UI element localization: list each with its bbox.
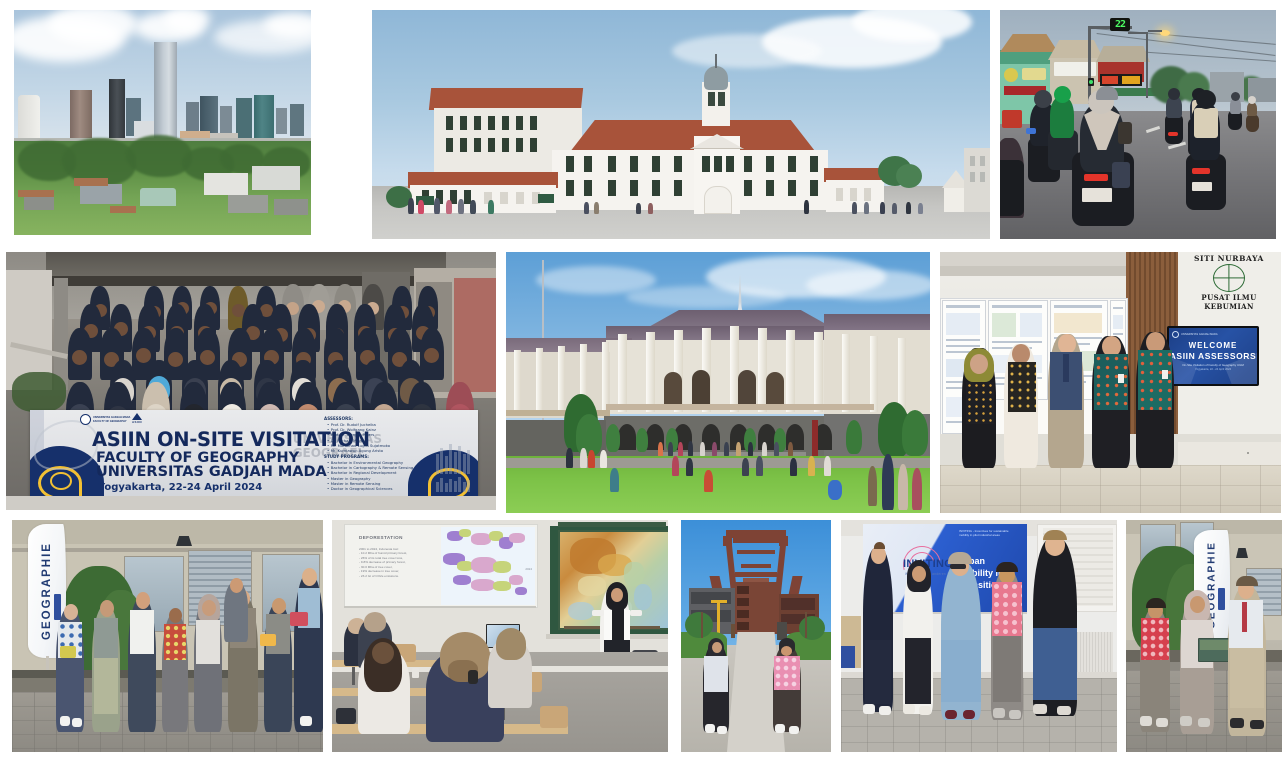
banner-date: Yogyakarta, 22-24 April 2024 [98,482,262,493]
study-programs-list: STUDY PROGRAMS: Bachelor in Environmenta… [324,454,413,492]
wall-sign: SITI NURBAYA PUSAT ILMU KEBUMIAN [1181,254,1277,311]
welcome-line1: WELCOME [1189,341,1238,350]
study-programs-heading: STUDY PROGRAMS: [324,454,413,459]
banner-subtitle-2: UNIVERSITAS GADJAH MADA [96,464,327,480]
photo-lecture-deforestation: DEFORESTATION 2001 to 2024, Indonesia lo… [332,520,668,752]
photo-ugm-balairung: Universitas Gadjah Mada Balairung main h… [506,252,930,513]
asiin-triangle-icon [132,413,142,420]
photo-fatahillah-museum: Jakarta History Museum (Fatahillah) colo… [372,10,990,239]
assessors-list: ASSESSORS: Prof. Dr. Rudolf Juchelka Pro… [324,416,390,454]
welcome-screen-content: UNIVERSITAS GADJAH MADA WELCOME ASIIN AS… [1169,328,1257,384]
photo-welcome-assessors: SITI NURBAYA PUSAT ILMU KEBUMIAN [940,252,1281,513]
asiin-logo-label: ASIIN [126,420,148,424]
slide-body: 2001 to 2024, Indonesia lost: - 10.2 Mha… [359,547,435,578]
wall-sign-line1: SITI NURBAYA [1181,254,1277,263]
ugm-seal-icon [80,414,91,425]
photo-geographie-handover: GEOGRAPHIE [1126,520,1282,752]
photo-motorbike-street: 22 [1000,10,1276,239]
photo-zollverein: Two visitors in front of the Zollverein … [681,520,831,752]
welcome-screen-tv: UNIVERSITAS GADJAH MADA WELCOME ASIIN AS… [1167,326,1259,386]
projection-screen: DEFORESTATION 2001 to 2024, Indonesia lo… [344,524,538,608]
ugm-logo: UNIVERSITAS GADJAH MADA FACULTY OF GEOGR… [80,414,130,425]
traffic-countdown-timer: 22 [1110,18,1130,31]
slide-body-line: - 23.2 Gt of CO2e emissions. [359,574,435,578]
globe-icon [1213,264,1245,292]
wall-sign-line2: PUSAT ILMU [1181,293,1277,302]
photo-collage: Jakarta city skyline with high-rise towe… [0,0,1287,759]
study-program-item: Doctor in Geographical Sciences [327,486,413,491]
slide-indonesia-map: 2024 [441,527,535,605]
photo-group-banner: UNIVERSITAS GEOGRAFI UNIVERS [6,252,496,510]
photo-geographie-group: GEOGRAPHIE [12,520,323,752]
ugm-logo-line2: FACULTY OF GEOGRAPHY [93,420,130,423]
event-banner: UNIVERSITAS GEOGRAFI UNIVERS [30,410,478,498]
countdown-value: 22 [1115,19,1125,30]
asiin-logo: ASIIN [126,413,148,424]
slide-title: DEFORESTATION [359,535,403,540]
slide-map-label: 2024 [525,567,532,571]
photo-inviting-presentation: INVITING Wege zu einem anderen Verkehr I… [841,520,1117,752]
assessors-heading: ASSESSORS: [324,416,390,421]
wall-sign-line3: KEBUMIAN [1181,302,1277,311]
slide-tagline: INVITING - Incentives for sustainable mo… [959,530,1017,538]
license-plate [1082,188,1112,202]
photo-jakarta-skyline: Jakarta city skyline with high-rise towe… [14,10,311,235]
flag-word: GEOGRAPHIE [41,542,53,640]
